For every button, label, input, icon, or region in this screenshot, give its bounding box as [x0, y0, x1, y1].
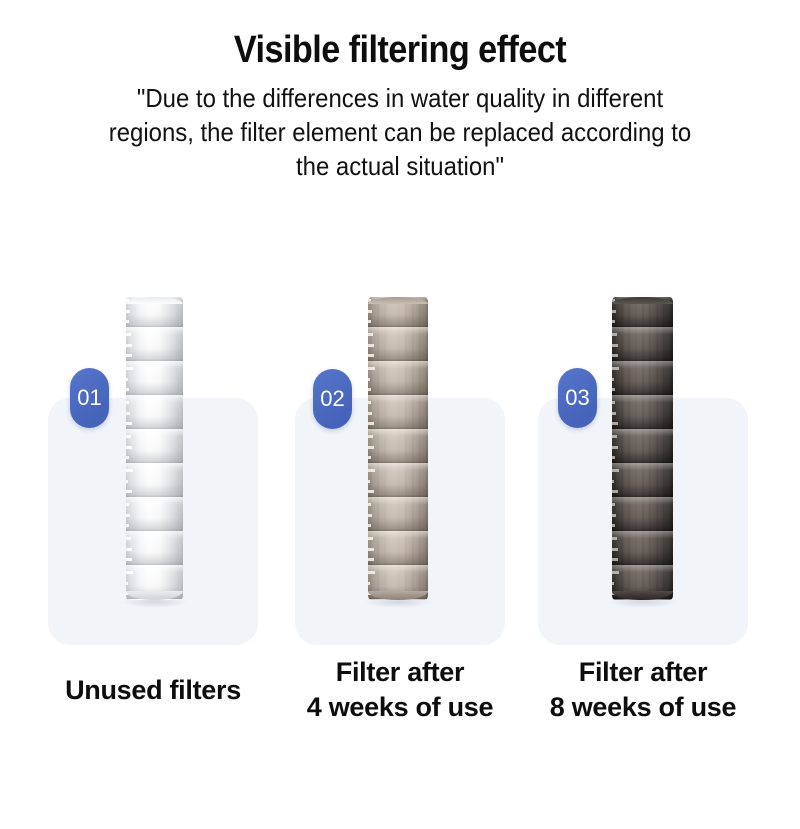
product-infographic-page: Visible filtering effect "Due to the dif… — [0, 0, 800, 829]
cylinder-ridges-2 — [368, 297, 428, 600]
cylinder-edge-nicks-1 — [126, 297, 133, 600]
filter-cartridge-4-weeks — [368, 297, 428, 600]
cylinder-edge-nicks-3 — [612, 297, 619, 600]
filter-cartridge-8-weeks — [612, 297, 673, 600]
caption-3: Filter after 8 weeks of use — [518, 655, 768, 725]
subtitle-line-1: "Due to the differences in water quality… — [63, 82, 736, 116]
subtitle-line-2: regions, the filter element can be repla… — [63, 116, 736, 150]
caption-2-line-2: 4 weeks of use — [275, 690, 525, 725]
captions-row: Unused filters Filter after 4 weeks of u… — [0, 655, 800, 745]
page-subtitle: "Due to the differences in water quality… — [32, 82, 768, 183]
cylinder-top-cap-3 — [612, 297, 673, 304]
caption-1-line-1: Unused filters — [28, 673, 278, 708]
page-title: Visible filtering effect — [40, 30, 760, 70]
cylinder-ridges-1 — [126, 297, 183, 600]
header-block: Visible filtering effect "Due to the dif… — [0, 30, 800, 184]
caption-3-line-2: 8 weeks of use — [518, 690, 768, 725]
cylinder-top-cap-2 — [368, 297, 428, 304]
step-badge-01: 01 — [70, 368, 109, 428]
cylinder-edge-nicks-2 — [368, 297, 375, 600]
cylinder-top-cap-1 — [126, 297, 183, 304]
subtitle-line-3: the actual situation" — [63, 150, 736, 184]
step-badge-02: 02 — [313, 369, 352, 429]
filter-cartridge-unused — [126, 297, 183, 600]
caption-3-line-1: Filter after — [518, 655, 768, 690]
caption-2: Filter after 4 weeks of use — [275, 655, 525, 725]
caption-2-line-1: Filter after — [275, 655, 525, 690]
caption-1: Unused filters — [28, 673, 278, 708]
step-badge-03: 03 — [558, 368, 597, 428]
cylinder-ridges-3 — [612, 297, 673, 600]
